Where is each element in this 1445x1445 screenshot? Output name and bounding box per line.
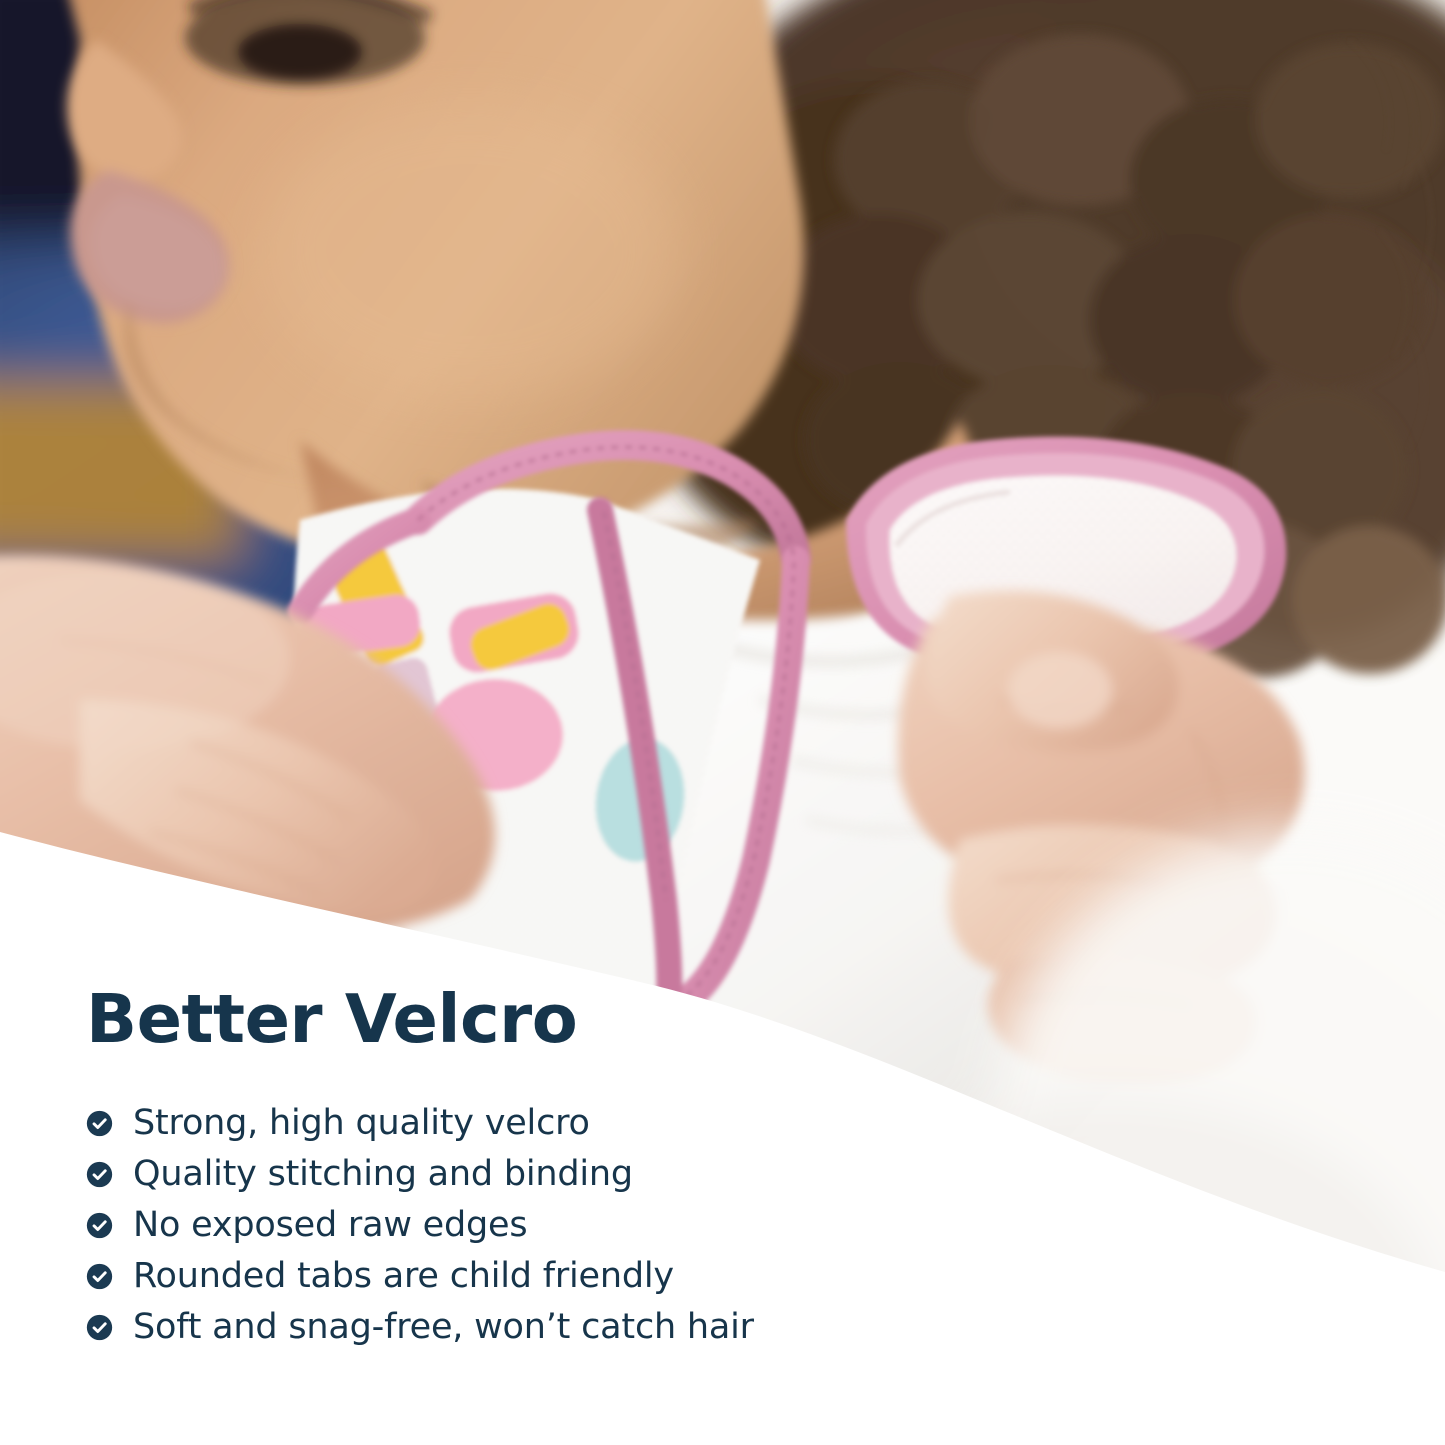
list-item: Strong, high quality velcro [86,1098,1186,1149]
page-title: Better Velcro [86,986,1186,1053]
check-circle-icon [86,1212,113,1239]
feature-text-block: Better Velcro Strong, high quality velcr… [86,986,1186,1353]
list-item-label: Strong, high quality velcro [133,1106,590,1141]
list-item: Rounded tabs are child friendly [86,1251,1186,1302]
check-circle-icon [86,1263,113,1290]
list-item-label: Rounded tabs are child friendly [133,1259,674,1294]
product-feature-infographic: Better Velcro Strong, high quality velcr… [0,0,1445,1445]
list-item-label: Quality stitching and binding [133,1157,633,1192]
list-item-label: No exposed raw edges [133,1208,527,1243]
check-circle-icon [86,1161,113,1188]
feature-bullet-list: Strong, high quality velcro Quality stit… [86,1098,1186,1353]
check-circle-icon [86,1110,113,1137]
list-item: Soft and snag-free, won’t catch hair [86,1302,1186,1353]
list-item-label: Soft and snag-free, won’t catch hair [133,1310,754,1345]
list-item: No exposed raw edges [86,1200,1186,1251]
list-item: Quality stitching and binding [86,1149,1186,1200]
check-circle-icon [86,1314,113,1341]
